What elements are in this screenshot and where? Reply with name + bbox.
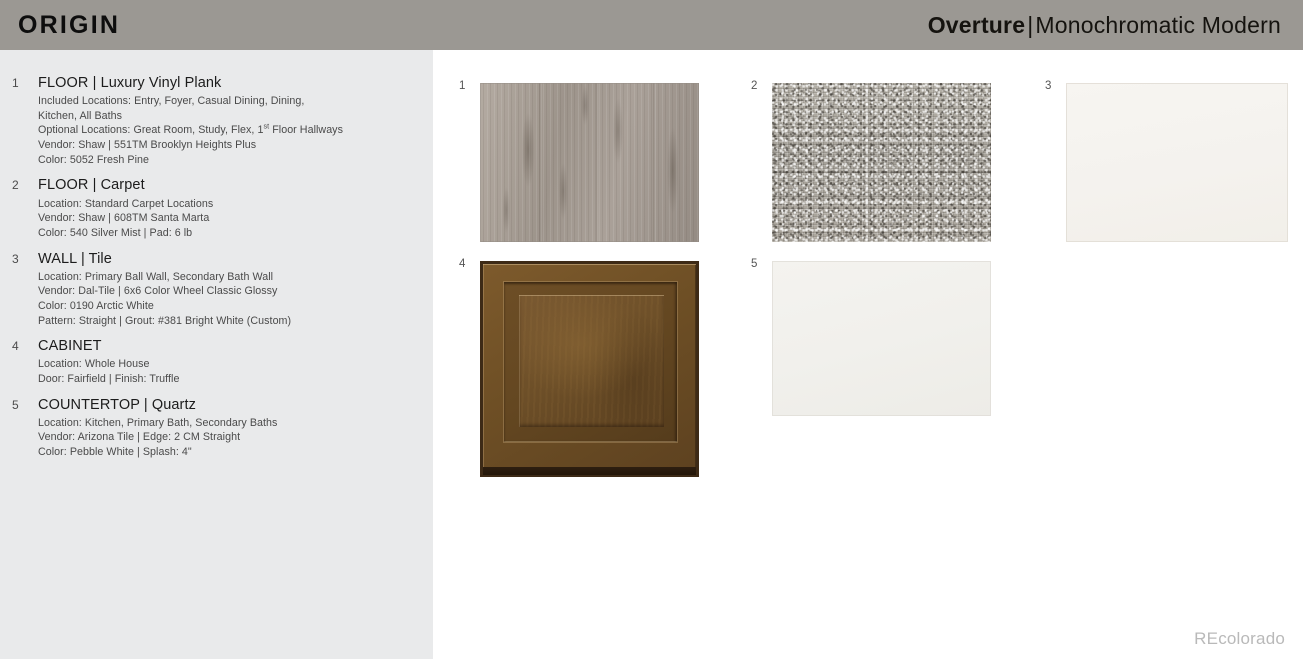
cabinet-bottom-edge [483,467,696,475]
swatch-number: 3 [1045,81,1051,93]
page-title: Overture|Monochromatic Modern [928,14,1281,37]
spec-detail-line: Color: Pebble White | Splash: 4" [38,445,423,460]
watermark: REcolorado [1194,630,1285,647]
swatch-image-luxury-vinyl-plank [480,83,699,242]
title-separator: | [1025,12,1035,38]
spec-detail-line: Vendor: Shaw | 551TM Brooklyn Heights Pl… [38,138,423,153]
swatch-cell-carpet: 2 [751,81,1016,246]
spec-detail-line: Pattern: Straight | Grout: #381 Bright W… [38,314,423,329]
swatch-number: 5 [751,259,757,271]
spec-number: 1 [12,74,38,167]
spec-detail-line: Vendor: Dal-Tile | 6x6 Color Wheel Class… [38,284,423,299]
spec-detail-line: Location: Standard Carpet Locations [38,197,423,212]
spec-body: WALL | Tile Location: Primary Ball Wall,… [38,250,423,329]
spec-detail-line: Location: Primary Ball Wall, Secondary B… [38,270,423,285]
swatch-number: 4 [459,259,465,271]
spec-body: CABINET Location: Whole House Door: Fair… [38,337,423,386]
cabinet-bevel-frame [504,282,677,442]
swatch-grid: 1 2 3 4 5 [433,50,1303,659]
swatch-image-quartz-countertop [772,261,991,416]
spec-detail-line: Color: 540 Silver Mist | Pad: 6 lb [38,226,423,241]
spec-number: 4 [12,337,38,386]
page-header: ORIGIN Overture|Monochromatic Modern [0,0,1303,50]
spec-title: WALL | Tile [38,250,423,268]
spec-title: FLOOR | Carpet [38,176,423,194]
swatch-number: 2 [751,81,757,93]
spec-body: COUNTERTOP | Quartz Location: Kitchen, P… [38,396,423,460]
spec-detail-line: Vendor: Shaw | 608TM Santa Marta [38,211,423,226]
spec-item-wall-tile: 3 WALL | Tile Location: Primary Ball Wal… [12,250,423,329]
swatch-cell-wall-tile: 3 [1045,81,1303,246]
spec-detail-line: Color: 0190 Arctic White [38,299,423,314]
swatch-image-cabinet-door [480,261,699,477]
spec-detail-line: Optional Locations: Great Room, Study, F… [38,123,423,138]
swatch-cell-quartz-countertop: 5 [751,259,1016,429]
spec-detail-line: Color: 5052 Fresh Pine [38,153,423,168]
selection-sheet-board: ORIGIN Overture|Monochromatic Modern 1 F… [0,0,1303,659]
swatch-image-wall-tile [1066,83,1288,242]
brand-logo: ORIGIN [18,13,120,38]
spec-title: CABINET [38,337,423,355]
swatch-cell-cabinet-door: 4 [459,259,724,479]
spec-body: FLOOR | Luxury Vinyl Plank Included Loca… [38,74,423,167]
spec-detail-line: Vendor: Arizona Tile | Edge: 2 CM Straig… [38,430,423,445]
cabinet-raised-panel [519,295,664,427]
spec-item-floor-luxury-vinyl-plank: 1 FLOOR | Luxury Vinyl Plank Included Lo… [12,74,423,167]
spec-title: FLOOR | Luxury Vinyl Plank [38,74,423,92]
swatch-number: 1 [459,81,465,93]
spec-item-cabinet: 4 CABINET Location: Whole House Door: Fa… [12,337,423,386]
spec-detail-line: Included Locations: Entry, Foyer, Casual… [38,94,423,109]
spec-item-floor-carpet: 2 FLOOR | Carpet Location: Standard Carp… [12,176,423,240]
spec-number: 5 [12,396,38,460]
plan-name: Overture [928,12,1025,38]
spec-detail-line: Location: Kitchen, Primary Bath, Seconda… [38,416,423,431]
spec-title: COUNTERTOP | Quartz [38,396,423,414]
spec-number: 2 [12,176,38,240]
swatch-cell-luxury-vinyl-plank: 1 [459,81,724,246]
spec-item-countertop-quartz: 5 COUNTERTOP | Quartz Location: Kitchen,… [12,396,423,460]
spec-detail-line: Location: Whole House [38,357,423,372]
swatch-image-carpet [772,83,991,242]
collection-name: Monochromatic Modern [1035,12,1281,38]
spec-detail-line: Kitchen, All Baths [38,109,423,124]
spec-number: 3 [12,250,38,329]
spec-sidebar: 1 FLOOR | Luxury Vinyl Plank Included Lo… [0,50,433,659]
spec-detail-line: Door: Fairfield | Finish: Truffle [38,372,423,387]
cabinet-outer-rail [483,264,696,468]
spec-body: FLOOR | Carpet Location: Standard Carpet… [38,176,423,240]
